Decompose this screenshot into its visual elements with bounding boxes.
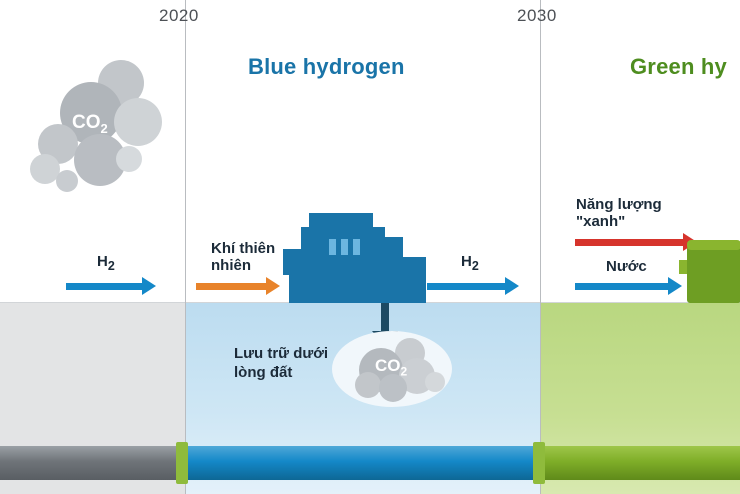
diagram-canvas: 2020 2030 en Blue hydrogen Green hy CO2 … (0, 0, 740, 494)
timeline-divider-2030 (540, 0, 541, 494)
pipeline-flange (176, 442, 188, 484)
arrow-head (142, 277, 156, 295)
natural-gas-label: Khí thiênnhiên (211, 240, 275, 275)
water-label: Nước (606, 258, 647, 275)
green-energy-label: Năng lượng"xanh" (576, 196, 662, 231)
arrow-head (505, 277, 519, 295)
pipeline-segment-green (540, 446, 740, 480)
pipeline-segment-grey (0, 446, 185, 480)
hydrogen-label-grey: H2 (97, 253, 115, 273)
arrow-head (266, 277, 280, 295)
co2-cloud-icon: CO2 (30, 60, 190, 200)
tank-body (687, 246, 740, 303)
hydrogen-label-blue: H2 (461, 253, 479, 273)
year-label-2020: 2020 (159, 6, 199, 26)
arrow-shaft (427, 283, 507, 290)
arrow-shaft (196, 283, 268, 290)
co2-label-blue: CO2 (375, 356, 407, 378)
pipeline-icon (0, 446, 740, 480)
arrow-shaft (575, 283, 670, 290)
arrow-shaft (66, 283, 144, 290)
industrial-plant-icon (283, 213, 426, 303)
year-label-2030: 2030 (517, 6, 557, 26)
arrow-shaft (381, 303, 389, 333)
storage-label: Lưu trữ dướilòng đất (234, 345, 328, 383)
co2-label-grey: CO2 (72, 112, 108, 136)
column-title-green: Green hy (630, 54, 727, 80)
fuel-tank-icon (679, 236, 740, 303)
column-title-blue: Blue hydrogen (248, 54, 405, 80)
pipeline-segment-blue (185, 446, 540, 480)
tank-top (687, 240, 740, 250)
arrow-shaft (575, 239, 685, 246)
smokestack-icon (0, 170, 12, 302)
pipeline-flange (533, 442, 545, 484)
